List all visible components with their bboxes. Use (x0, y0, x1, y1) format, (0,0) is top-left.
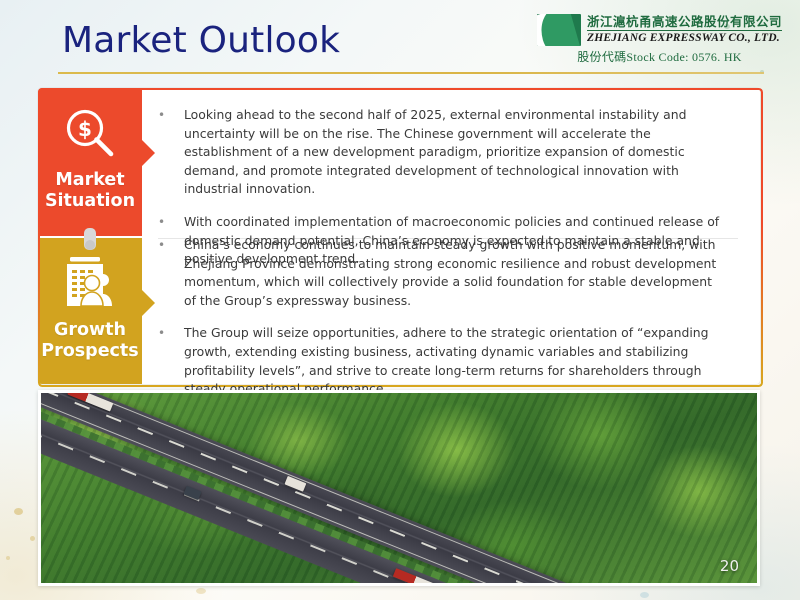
section-label-market-situation: Market Situation (38, 170, 142, 213)
bullet-text: The Group will seize opportunities, adhe… (184, 324, 722, 398)
section-label-line2: Prospects (38, 341, 142, 362)
bullets-area: • Looking ahead to the second half of 20… (158, 88, 748, 384)
aerial-expressway-forest-photo: 20 (38, 390, 760, 586)
section-panel-growth-prospects[interactable]: Growth Prospects (38, 238, 142, 384)
bullet-marker-icon: • (158, 106, 184, 199)
bullet-group-market-situation: • Looking ahead to the second half of 20… (158, 88, 748, 220)
bullet-item: • China’s economy continues to maintain … (158, 236, 722, 310)
slide: Market Outlook 浙江滬杭甬高速公路股份有限公司 ZHEJIANG … (0, 0, 800, 600)
bullet-marker-icon: • (158, 324, 184, 398)
bullet-marker-icon: • (158, 236, 184, 310)
section-panel-market-situation[interactable]: $ Market Situation (38, 88, 142, 236)
page-title: Market Outlook (62, 20, 340, 61)
zhejiang-expressway-logo-icon (537, 14, 581, 46)
watercolor-speckle (196, 588, 206, 594)
bullet-group-growth-prospects: • China’s economy continues to maintain … (158, 220, 748, 399)
bullet-text: Looking ahead to the second half of 2025… (184, 106, 722, 199)
magnifier-dollar-icon: $ (38, 88, 142, 170)
company-name-en: ZHEJIANG EXPRESSWAY CO., LTD. (587, 33, 782, 45)
section-label-line1: Market (38, 170, 142, 191)
section-label-line1: Growth (38, 320, 142, 341)
building-people-icon (38, 238, 142, 320)
page-number: 20 (720, 557, 739, 575)
company-logo: 浙江滬杭甬高速公路股份有限公司 ZHEJIANG EXPRESSWAY CO.,… (537, 14, 782, 63)
watercolor-speckle (6, 556, 10, 560)
watercolor-speckle (14, 508, 23, 515)
watercolor-speckle (30, 536, 35, 541)
panel-arrow-red-icon (142, 140, 155, 166)
section-label-line2: Situation (38, 191, 142, 212)
panel-connector-pin-icon (84, 228, 96, 250)
company-name-cn: 浙江滬杭甬高速公路股份有限公司 (587, 16, 782, 31)
panel-arrow-gold-icon (142, 290, 155, 316)
stock-code-label: 股份代碼Stock Code: 0576. HK (537, 51, 782, 63)
watercolor-speckle (640, 592, 649, 598)
title-underline-rule (58, 72, 764, 74)
bullet-item: • The Group will seize opportunities, ad… (158, 324, 722, 398)
svg-text:$: $ (78, 117, 92, 141)
bullet-item: • Looking ahead to the second half of 20… (158, 106, 722, 199)
section-label-growth-prospects: Growth Prospects (38, 320, 142, 363)
bullet-text: China’s economy continues to maintain st… (184, 236, 722, 310)
